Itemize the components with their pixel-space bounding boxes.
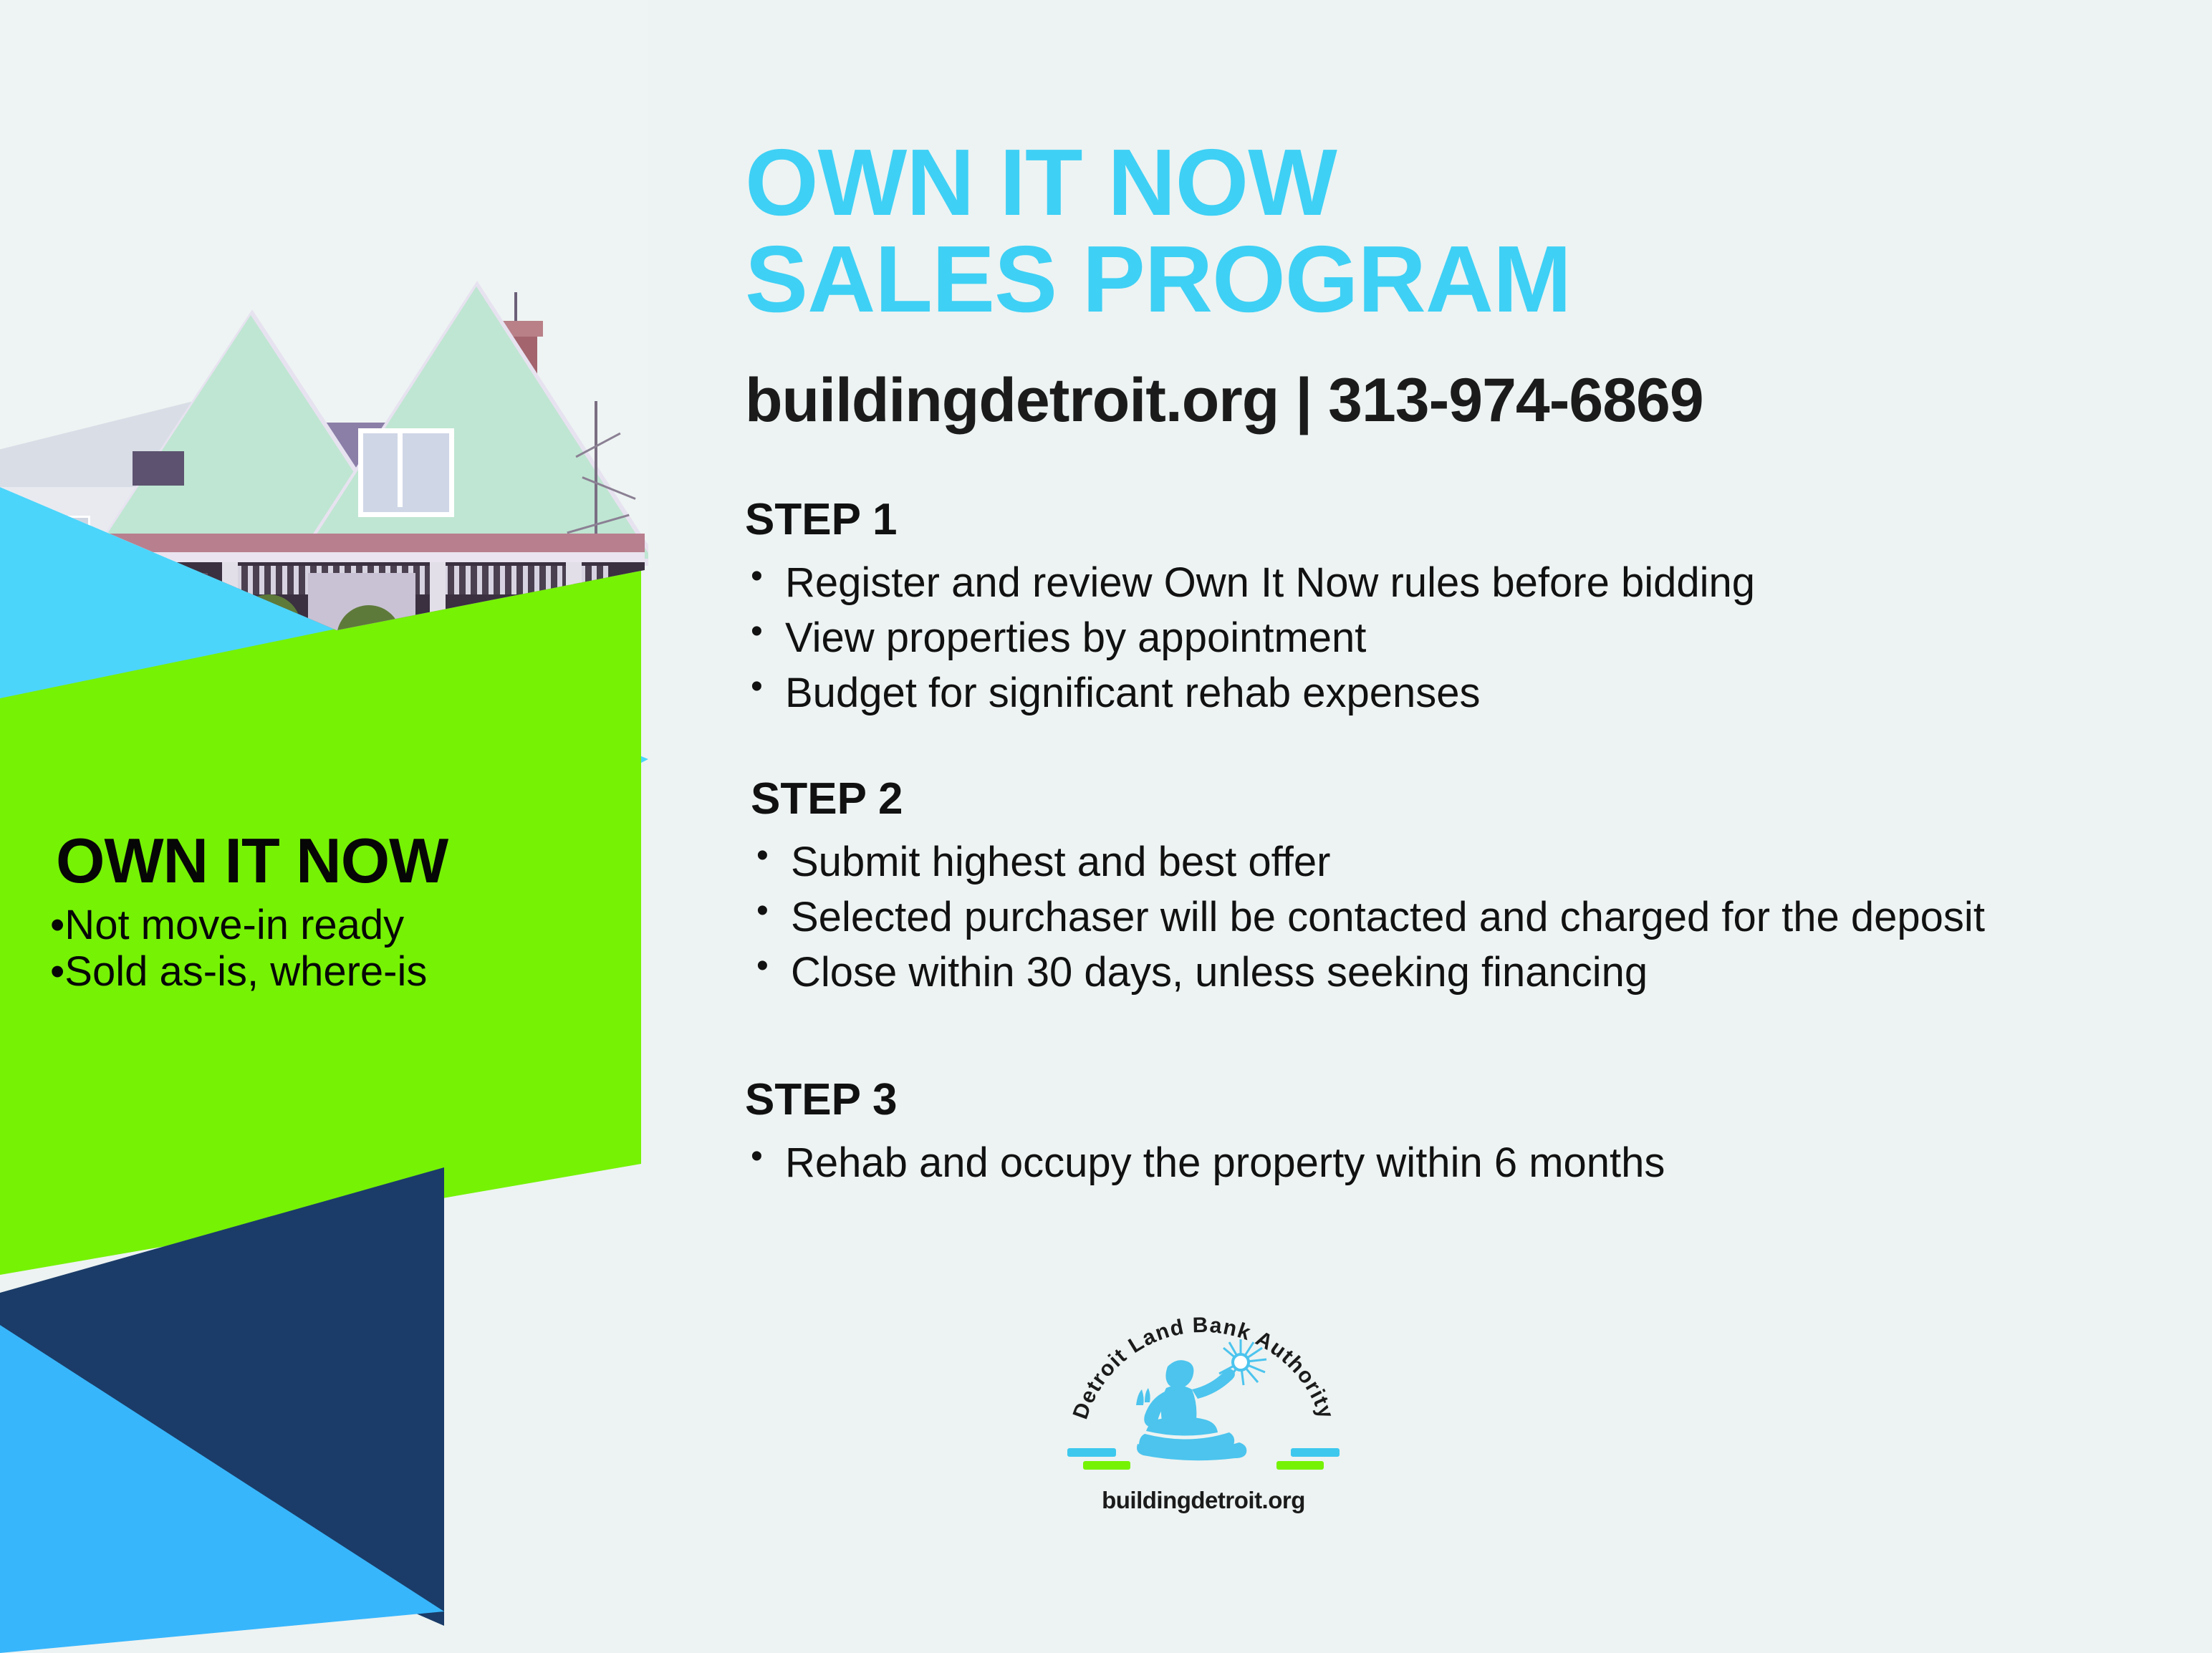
contact-line[interactable]: buildingdetroit.org | 313-974-6869: [745, 365, 1703, 436]
dash-green-left: [1083, 1461, 1130, 1470]
dash-green-right: [1276, 1461, 1324, 1470]
step-2-heading: STEP 2: [751, 774, 2155, 824]
page-title-line2: SALES PROGRAM: [745, 231, 2106, 328]
step-1-list: Register and review Own It Now rules bef…: [745, 555, 2149, 721]
dash-cyan-left: [1067, 1448, 1116, 1457]
step-1-bullet: Register and review Own It Now rules bef…: [745, 555, 2149, 610]
flyer-canvas: OWN IT NOW •Not move-in ready •Sold as-i…: [0, 0, 2212, 1653]
step-3-list: Rehab and occupy the property within 6 m…: [745, 1135, 2149, 1190]
step-1-bullet: View properties by appointment: [745, 610, 2149, 665]
step-3-section: STEP 3 Rehab and occupy the property wit…: [745, 1074, 2149, 1190]
dash-cyan-right: [1291, 1448, 1340, 1457]
step-1-bullet: Budget for significant rehab expenses: [745, 665, 2149, 721]
green-panel-title: OWN IT NOW: [56, 829, 638, 892]
step-2-bullet: Selected purchaser will be contacted and…: [751, 890, 2155, 945]
content-column: OWN IT NOW SALES PROGRAM buildingdetroit…: [745, 0, 2178, 1653]
step-1-heading: STEP 1: [745, 494, 2149, 545]
step-2-bullet: Close within 30 days, unless seeking fin…: [751, 945, 2155, 1000]
green-panel-list: •Not move-in ready •Sold as-is, where-is: [50, 902, 638, 996]
spirit-of-detroit-icon: [1136, 1339, 1266, 1460]
logo-url-text[interactable]: buildingdetroit.org: [1053, 1487, 1354, 1514]
step-3-heading: STEP 3: [745, 1074, 2149, 1125]
left-graphic-panel: OWN IT NOW •Not move-in ready •Sold as-i…: [0, 0, 688, 1653]
dlba-logo: Detroit Land Bank Authority: [1053, 1311, 1354, 1526]
green-panel-bullet: •Not move-in ready: [50, 902, 638, 949]
green-panel-text: OWN IT NOW •Not move-in ready •Sold as-i…: [50, 829, 638, 996]
green-panel-bullet: •Sold as-is, where-is: [50, 949, 638, 996]
step-1-section: STEP 1 Register and review Own It Now ru…: [745, 494, 2149, 721]
upper-window-mullion: [358, 428, 403, 507]
gable-vent: [133, 451, 184, 486]
logo-graphic: Detroit Land Bank Authority: [1053, 1311, 1354, 1490]
page-title: OWN IT NOW SALES PROGRAM: [745, 135, 2106, 327]
step-2-section: STEP 2 Submit highest and best offer Sel…: [751, 774, 2155, 1000]
step-2-list: Submit highest and best offer Selected p…: [751, 834, 2155, 1000]
logo-arc-text: Detroit Land Bank Authority: [1069, 1314, 1339, 1422]
step-3-bullet: Rehab and occupy the property within 6 m…: [745, 1135, 2149, 1190]
page-title-line1: OWN IT NOW: [745, 130, 1337, 235]
step-2-bullet: Submit highest and best offer: [751, 834, 2155, 890]
